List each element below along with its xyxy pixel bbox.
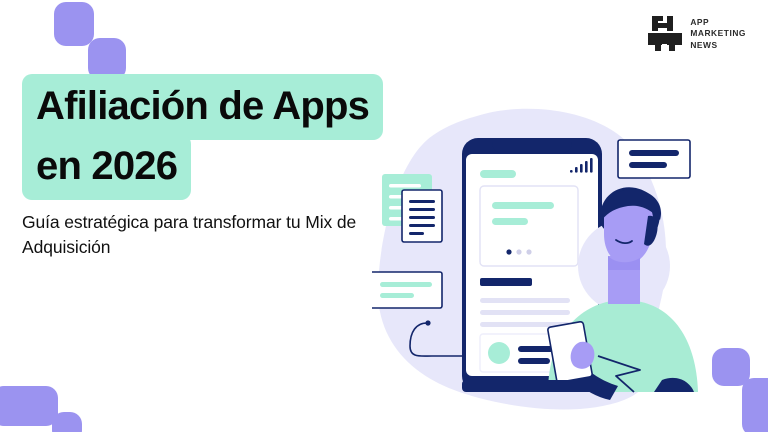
page-subtitle: Guía estratégica para transformar tu Mix…: [22, 210, 382, 260]
card-document: [402, 190, 442, 242]
page-title: Afiliación de Apps en 2026: [22, 74, 383, 200]
card-top-right: [618, 140, 690, 178]
phone-carousel-card: [480, 186, 578, 266]
brand-logo[interactable]: APP MARKETING NEWS: [648, 14, 746, 54]
carousel-dots[interactable]: [506, 249, 531, 254]
app-marketing-news-monogram-icon: [648, 14, 682, 54]
illustration-svg: [372, 108, 768, 432]
decor-square-bottom-left-a: [0, 386, 58, 426]
brand-logo-text: APP MARKETING NEWS: [690, 17, 746, 50]
poster-canvas: APP MARKETING NEWS Afiliación de Apps en…: [0, 0, 768, 432]
title-line-2: en 2026: [22, 134, 191, 200]
card-bottom-left: [372, 272, 442, 308]
decor-square-bottom-left-b: [52, 412, 82, 432]
hero-illustration: [372, 108, 768, 432]
decor-square-top-left-a: [54, 2, 94, 46]
title-line-1: Afiliación de Apps: [22, 74, 383, 140]
